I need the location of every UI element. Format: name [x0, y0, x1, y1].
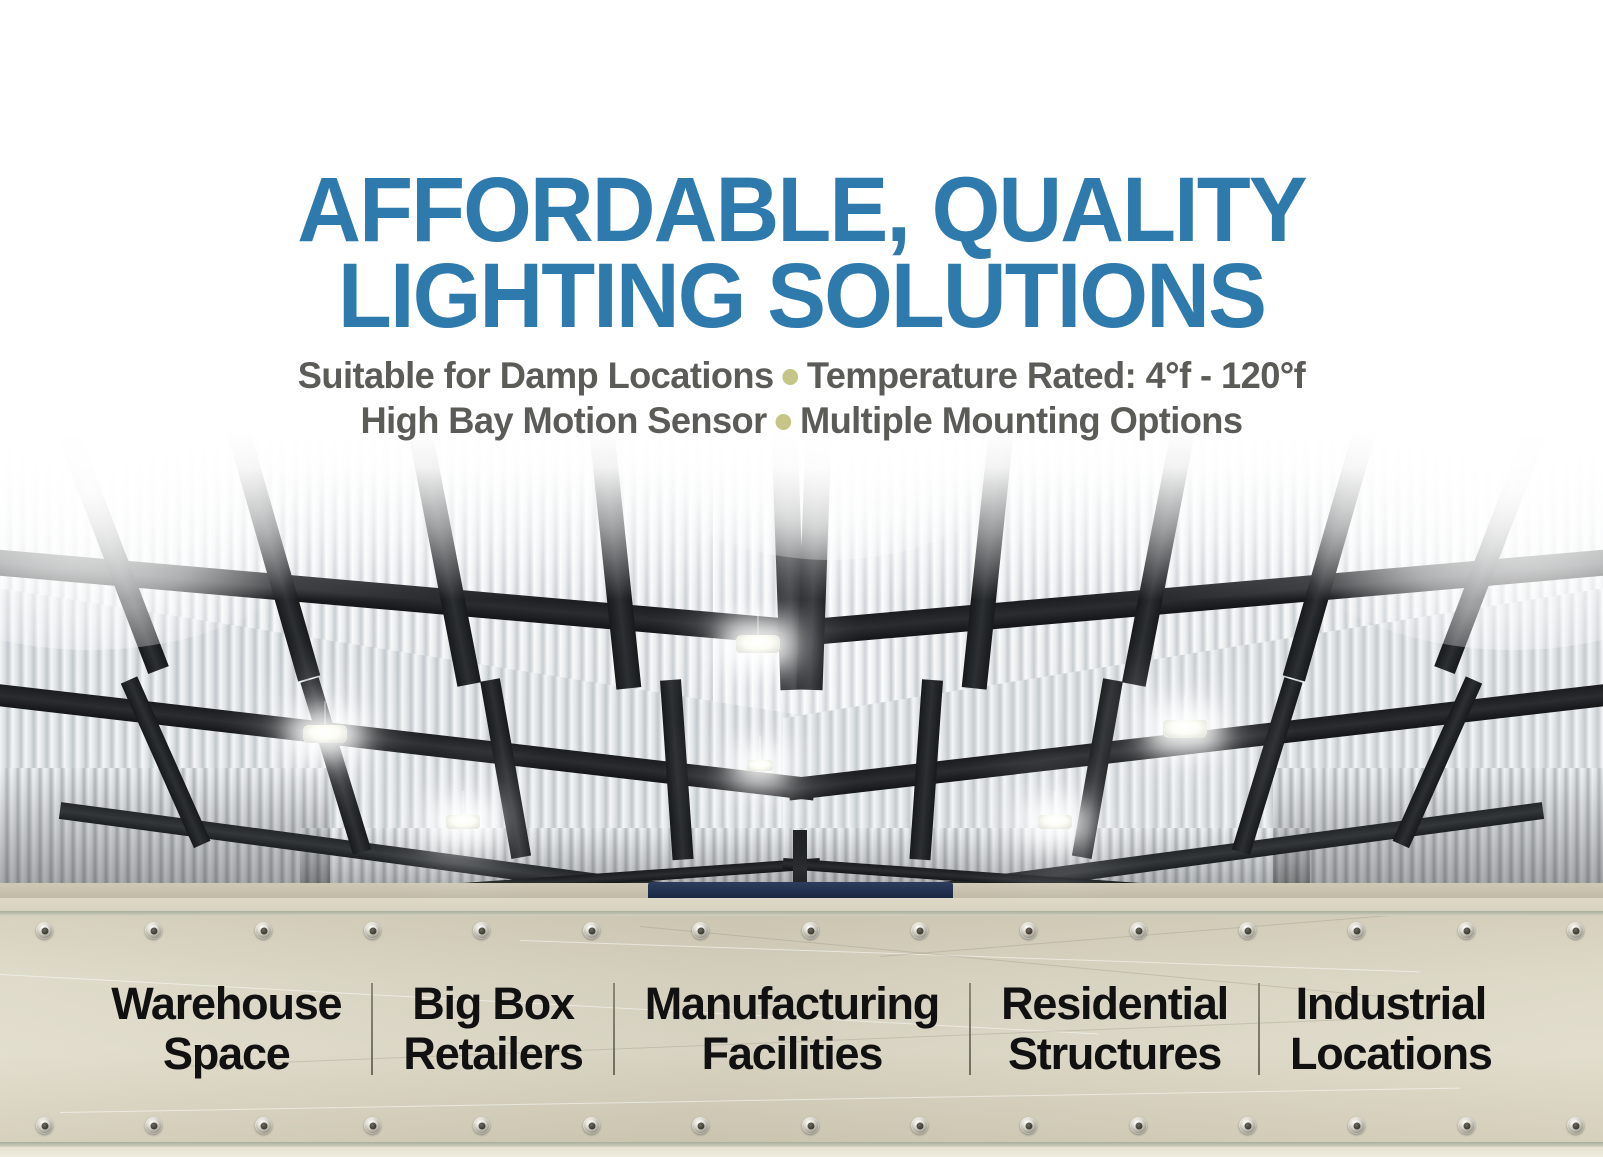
rivet: [36, 1117, 53, 1134]
rivet: [1458, 1117, 1475, 1134]
category-manufacturing-facilities[interactable]: Manufacturing Facilities: [615, 979, 969, 1080]
banner-bottom-strip: [0, 1147, 1603, 1157]
category-line-1: Warehouse: [111, 979, 341, 1029]
rivet: [1020, 922, 1037, 939]
category-line-2: Space: [111, 1029, 341, 1079]
category-line-1: Industrial: [1290, 979, 1492, 1029]
rivet: [364, 1117, 381, 1134]
category-line-2: Facilities: [645, 1029, 939, 1079]
light-stem: [462, 791, 464, 817]
light-fixture: [1163, 720, 1207, 738]
light-stem: [324, 701, 326, 727]
rivet: [1020, 1117, 1037, 1134]
rivet: [583, 922, 600, 939]
light-fixture: [736, 635, 780, 653]
rivet: [364, 922, 381, 939]
page-title: AFFORDABLE, QUALITY LIGHTING SOLUTIONS: [32, 168, 1571, 339]
rivet: [1567, 922, 1584, 939]
rivet: [692, 1117, 709, 1134]
category-line-1: Manufacturing: [645, 979, 939, 1029]
subheadline-temperature-rated: Temperature Rated: 4°f - 120°f: [807, 355, 1305, 396]
rivet: [36, 922, 53, 939]
rivet: [255, 1117, 272, 1134]
rivet: [1567, 1117, 1584, 1134]
rivet: [1130, 922, 1147, 939]
rivet: [145, 922, 162, 939]
rivet: [473, 922, 490, 939]
light-fixture: [1038, 815, 1072, 829]
rivet: [911, 1117, 928, 1134]
panel-scuff: [880, 916, 1578, 957]
rivet: [583, 1117, 600, 1134]
bullet-separator-icon: [775, 414, 791, 430]
category-warehouse-space[interactable]: Warehouse Space: [81, 979, 371, 1080]
headline-line-2: LIGHTING SOLUTIONS: [32, 254, 1571, 340]
category-line-1: Residential: [1001, 979, 1228, 1029]
bullet-separator-icon: [782, 369, 798, 385]
headline-line-1: AFFORDABLE, QUALITY: [32, 168, 1571, 254]
rivet: [1348, 922, 1365, 939]
category-line-2: Retailers: [403, 1029, 582, 1079]
warehouse-interior-photo: [0, 430, 1603, 905]
rivet: [1348, 1117, 1365, 1134]
lighting-solutions-poster: AFFORDABLE, QUALITY LIGHTING SOLUTIONS S…: [0, 0, 1603, 1157]
rivet: [911, 922, 928, 939]
category-big-box-retailers[interactable]: Big Box Retailers: [373, 979, 612, 1080]
light-fixture: [446, 815, 480, 829]
category-line-1: Big Box: [403, 979, 582, 1029]
category-industrial-locations[interactable]: Industrial Locations: [1260, 979, 1522, 1080]
headline-block: AFFORDABLE, QUALITY LIGHTING SOLUTIONS S…: [0, 0, 1603, 450]
rivet: [1458, 922, 1475, 939]
rivet: [802, 1117, 819, 1134]
rivet: [692, 922, 709, 939]
light-stem: [757, 611, 759, 637]
application-categories: Warehouse Space Big Box Retailers Manufa…: [0, 964, 1603, 1094]
rivet: [255, 922, 272, 939]
rivet: [145, 1117, 162, 1134]
photo-top-fade: [0, 430, 1603, 600]
rivet: [1239, 922, 1256, 939]
subheadline-damp-locations: Suitable for Damp Locations: [298, 355, 774, 396]
rivet: [473, 1117, 490, 1134]
subheadline-line-1: Suitable for Damp LocationsTemperature R…: [16, 353, 1587, 398]
light-stem: [1184, 696, 1186, 722]
light-stem: [1054, 791, 1056, 817]
rivet: [802, 922, 819, 939]
light-fixture: [303, 725, 347, 743]
banner-top-strip: [0, 898, 1603, 911]
category-line-2: Structures: [1001, 1029, 1228, 1079]
rivet: [1130, 1117, 1147, 1134]
applications-banner: Warehouse Space Big Box Retailers Manufa…: [0, 898, 1603, 1157]
rivet: [1239, 1117, 1256, 1134]
category-residential-structures[interactable]: Residential Structures: [971, 979, 1258, 1080]
light-fixture: [747, 760, 773, 771]
category-line-2: Locations: [1290, 1029, 1492, 1079]
banner-metal-panel: Warehouse Space Big Box Retailers Manufa…: [0, 916, 1603, 1142]
light-stem: [759, 736, 761, 762]
